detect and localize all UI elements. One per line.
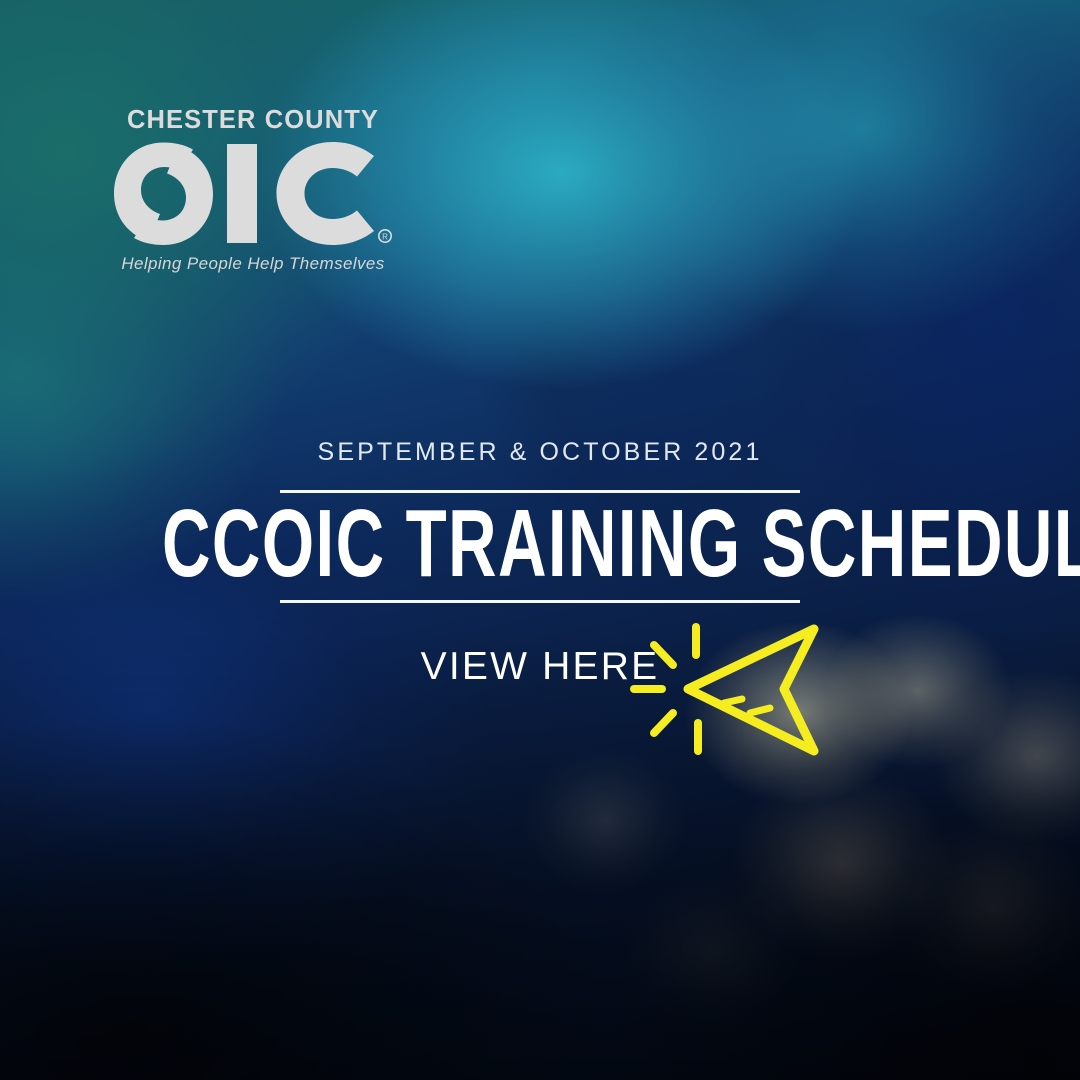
main-content-block: SEPTEMBER & OCTOBER 2021 CCOIC TRAINING … (0, 440, 1080, 783)
svg-text:R: R (382, 232, 388, 241)
page-title: CCOIC TRAINING SCHEDULE (162, 505, 918, 584)
click-cursor-arrow-icon (618, 611, 848, 771)
organization-logo: CHESTER COUNTY R Helping People Help The… (108, 108, 398, 274)
date-range-eyebrow: SEPTEMBER & OCTOBER 2021 (0, 440, 1080, 465)
logo-org-prefix: CHESTER COUNTY (108, 108, 398, 134)
divider-rule-bottom (280, 600, 800, 603)
promo-poster: CHESTER COUNTY R Helping People Help The… (0, 0, 1080, 1080)
oic-wordmark: R (108, 140, 398, 248)
logo-tagline: Helping People Help Themselves (108, 254, 398, 274)
view-here-link[interactable]: VIEW HERE (0, 647, 1080, 686)
cta-row: VIEW HERE (0, 633, 1080, 783)
